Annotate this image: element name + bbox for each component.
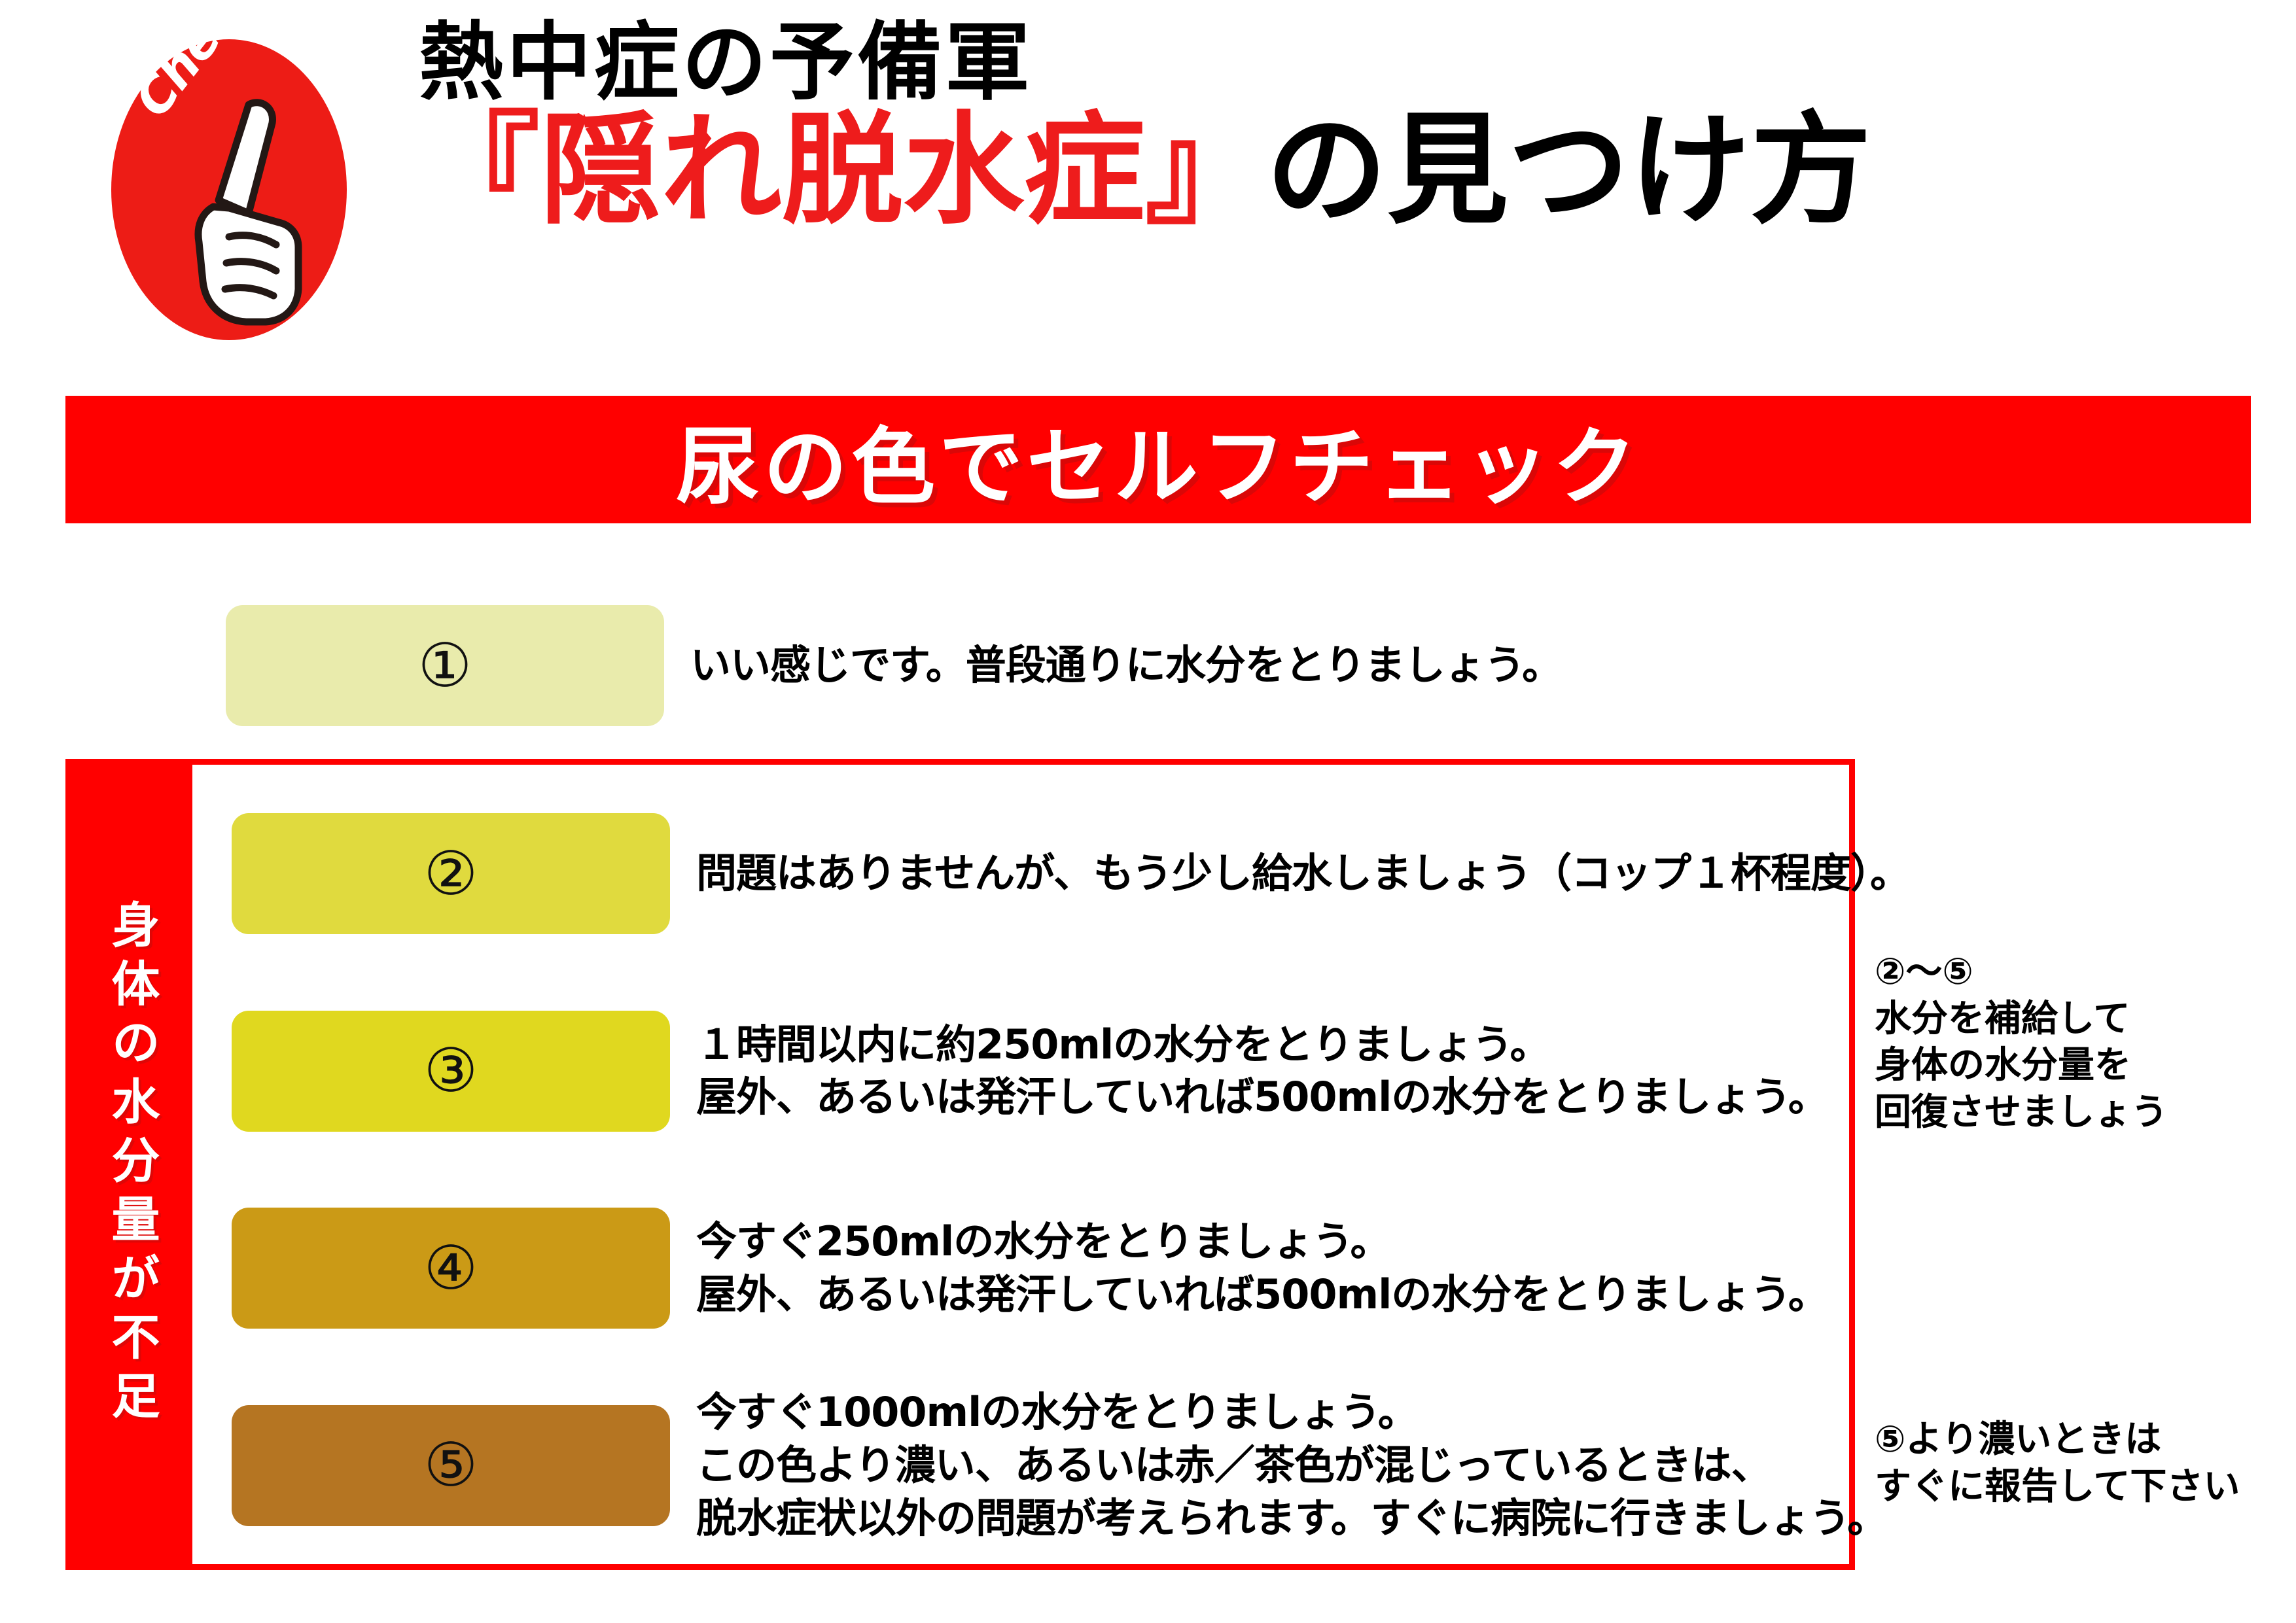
row-2: ② 問題はありませんが、もう少し給水しましょう（コップ１杯程度）。	[192, 792, 1849, 956]
swatch-number-1: ①	[418, 636, 472, 696]
title-red-part: 『隠れ脱水症』	[419, 99, 1266, 241]
row-5-line-2: この色より濃い、あるいは赤／茶色が混じっているときは、	[696, 1439, 1887, 1492]
note-top-line-1: ②〜⑤	[1875, 949, 2280, 996]
note-report: ⑤より濃いときは すぐに報告して下さい	[1875, 1416, 2280, 1510]
swatch-number-3: ③	[424, 1041, 478, 1101]
title-line-1: 熱中症の予備軍	[419, 20, 2270, 105]
row-5: ⑤ 今すぐ1000mlの水分をとりましょう。 この色より濃い、あるいは赤／茶色が…	[192, 1384, 1849, 1547]
row-5-text: 今すぐ1000mlの水分をとりましょう。 この色より濃い、あるいは赤／茶色が混じ…	[696, 1386, 1887, 1544]
row-1: ① いい感じです。普段通りに水分をとりましょう。	[226, 605, 2189, 726]
row-3-text: １時間以内に約250mlの水分をとりましょう。 屋外、あるいは発汗していれば50…	[696, 1019, 1828, 1124]
title-black-part: の見つけ方	[1266, 99, 1871, 241]
row-2-text: 問題はありませんが、もう少し給水しましょう（コップ１杯程度）。	[696, 847, 1910, 900]
pointing-finger-icon	[150, 85, 347, 347]
row-3-line-1: １時間以内に約250mlの水分をとりましょう。	[696, 1019, 1828, 1072]
note-bottom-line-2: すぐに報告して下さい	[1875, 1463, 2280, 1510]
note-hydrate: ②〜⑤ 水分を補給して 身体の水分量を 回復させましょう	[1875, 949, 2280, 1136]
box-rows: ② 問題はありませんが、もう少し給水しましょう（コップ１杯程度）。 ③ １時間以…	[192, 765, 1849, 1564]
sidebar-label-strip: 身体の水分量が不足	[71, 765, 192, 1564]
note-top-line-3: 身体の水分量を	[1875, 1042, 2280, 1089]
swatch-number-2: ②	[424, 844, 478, 904]
banner: 尿の色でセルフチェック	[65, 396, 2251, 523]
color-swatch-4: ④	[232, 1208, 670, 1329]
poster-root: Check! 熱中症の予備軍 『隠れ脱水症』の見つけ方 尿の色でセルフチェック …	[0, 0, 2296, 1623]
swatch-number-4: ④	[424, 1238, 478, 1299]
row-3-line-2: 屋外、あるいは発汗していれば500mlの水分をとりましょう。	[696, 1071, 1828, 1124]
banner-text: 尿の色でセルフチェック	[676, 399, 1640, 520]
color-swatch-5: ⑤	[232, 1405, 670, 1526]
row-4: ④ 今すぐ250mlの水分をとりましょう。 屋外、あるいは発汗していれば500m…	[192, 1187, 1849, 1350]
color-swatch-2: ②	[232, 813, 670, 934]
row-5-line-1: 今すぐ1000mlの水分をとりましょう。	[696, 1386, 1887, 1439]
page-title: 熱中症の予備軍 『隠れ脱水症』の見つけ方	[419, 20, 2270, 231]
note-bottom-line-1: ⑤より濃いときは	[1875, 1416, 2280, 1463]
color-swatch-1: ①	[226, 605, 664, 726]
row-4-line-2: 屋外、あるいは発汗していれば500mlの水分をとりましょう。	[696, 1268, 1828, 1321]
row-1-text: いい感じです。普段通りに水分をとりましょう。	[690, 639, 1562, 692]
row-2-line-1: 問題はありませんが、もう少し給水しましょう（コップ１杯程度）。	[696, 847, 1910, 900]
note-top-line-2: 水分を補給して	[1875, 996, 2280, 1043]
sidebar-label: 身体の水分量が不足	[97, 899, 167, 1429]
row-1-line-1: いい感じです。普段通りに水分をとりましょう。	[690, 639, 1562, 692]
deficiency-box: 身体の水分量が不足 ② 問題はありませんが、もう少し給水しましょう（コップ１杯程…	[65, 759, 1855, 1570]
title-line-2: 『隠れ脱水症』の見つけ方	[419, 110, 2270, 231]
check-badge: Check!	[92, 39, 353, 347]
row-3: ③ １時間以内に約250mlの水分をとりましょう。 屋外、あるいは発汗していれば…	[192, 989, 1849, 1153]
swatch-number-5: ⑤	[424, 1435, 478, 1495]
note-top-line-4: 回復させましょう	[1875, 1089, 2280, 1136]
row-4-text: 今すぐ250mlの水分をとりましょう。 屋外、あるいは発汗していれば500mlの…	[696, 1215, 1828, 1321]
header: Check! 熱中症の予備軍 『隠れ脱水症』の見つけ方	[0, 0, 2296, 379]
row-4-line-1: 今すぐ250mlの水分をとりましょう。	[696, 1215, 1828, 1268]
color-swatch-3: ③	[232, 1011, 670, 1132]
row-5-line-3: 脱水症状以外の問題が考えられます。すぐに病院に行きましょう。	[696, 1492, 1887, 1545]
